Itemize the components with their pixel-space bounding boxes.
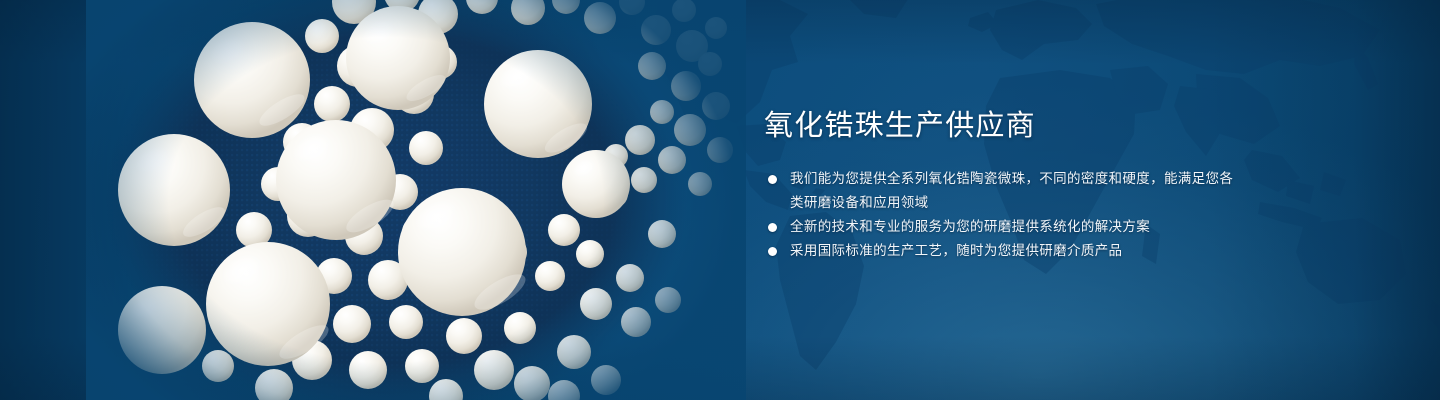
bullet-dot-icon (768, 247, 777, 256)
list-item: 采用国际标准的生产工艺，随时为您提供研磨介质产品 (764, 239, 1234, 263)
bullet-text: 我们能为您提供全系列氧化锆陶瓷微珠，不同的密度和硬度，能满足您各类研磨设备和应用… (790, 167, 1234, 215)
list-item: 全新的技术和专业的服务为您的研磨提供系统化的解决方案 (764, 215, 1234, 239)
list-item: 我们能为您提供全系列氧化锆陶瓷微珠，不同的密度和硬度，能满足您各类研磨设备和应用… (764, 167, 1234, 215)
bullet-text: 全新的技术和专业的服务为您的研磨提供系统化的解决方案 (790, 215, 1234, 239)
ceramic-beads-illustration (96, 0, 736, 400)
hero-banner: 氧化锆珠生产供应商 我们能为您提供全系列氧化锆陶瓷微珠，不同的密度和硬度，能满足… (0, 0, 1440, 400)
bullet-text: 采用国际标准的生产工艺，随时为您提供研磨介质产品 (790, 239, 1234, 263)
bullet-dot-icon (768, 223, 777, 232)
banner-copy: 氧化锆珠生产供应商 我们能为您提供全系列氧化锆陶瓷微珠，不同的密度和硬度，能满足… (764, 108, 1234, 263)
zirconia-beads-photo (96, 0, 736, 400)
bullet-dot-icon (768, 175, 777, 184)
page-title: 氧化锆珠生产供应商 (764, 108, 1234, 144)
feature-bullet-list: 我们能为您提供全系列氧化锆陶瓷微珠，不同的密度和硬度，能满足您各类研磨设备和应用… (764, 167, 1234, 263)
